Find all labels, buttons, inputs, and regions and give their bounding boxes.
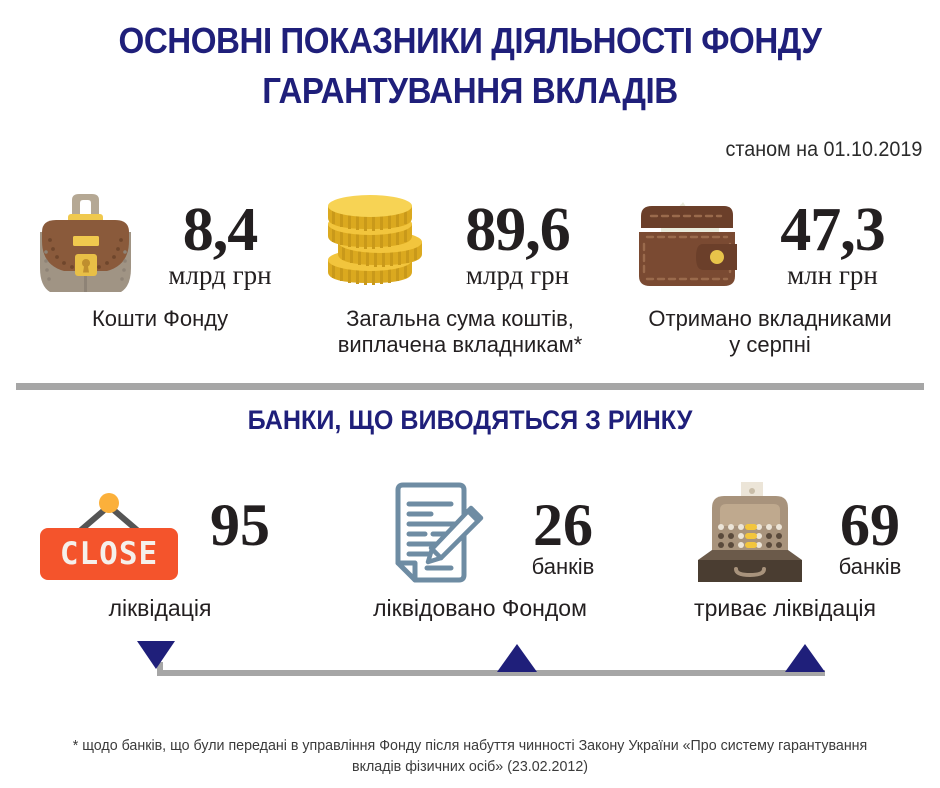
stat-unit: млрд грн (430, 260, 605, 290)
stat-caption-total-paid: Загальна сума коштів, виплачена вкладник… (295, 306, 625, 358)
infographic-page: ОСНОВНІ ПОКАЗНИКИ ДІЯЛЬНОСТІ ФОНДУ ГАРАН… (0, 0, 940, 788)
stat-caption-received-august: Отримано вкладниками у серпні (600, 306, 940, 358)
stat-value: 95 (180, 496, 300, 554)
page-title-line1: ОСНОВНІ ПОКАЗНИКИ ДІЯЛЬНОСТІ ФОНДУ (119, 20, 822, 61)
stat-caption-ongoing: триває ліквідація (625, 595, 940, 621)
stat-value: 69 (805, 496, 935, 554)
as-of-date: станом на 01.10.2019 (725, 138, 922, 162)
stat-value-block-received-august: 47,3 млн грн (745, 200, 920, 290)
stat-value-block-liquidation: 95 (180, 496, 300, 554)
timeline-marker-liquidated (497, 644, 537, 672)
stat-unit: млн грн (745, 260, 920, 290)
stat-caption-line2: виплачена вкладникам* (295, 332, 625, 358)
stat-caption-line1: Кошти Фонду (20, 306, 300, 332)
stat-caption-line1: Отримано вкладниками (600, 306, 940, 332)
stat-value: 8,4 (145, 200, 295, 260)
page-title-line2: ГАРАНТУВАННЯ ВКЛАДІВ (38, 66, 903, 116)
document-pen-icon (385, 480, 490, 593)
stat-unit: млрд грн (145, 260, 295, 290)
stat-caption-line1: Загальна сума коштів, (295, 306, 625, 332)
footnote: * щодо банків, що були передані в управл… (62, 735, 879, 777)
page-title: ОСНОВНІ ПОКАЗНИКИ ДІЯЛЬНОСТІ ФОНДУ ГАРАН… (38, 16, 903, 116)
section-divider (16, 383, 924, 390)
stat-unit: банків (498, 554, 628, 580)
timeline-marker-ongoing (785, 644, 825, 672)
stat-value: 89,6 (430, 200, 605, 260)
cash-register-icon (690, 480, 810, 595)
stat-value-block-total-paid: 89,6 млрд грн (430, 200, 605, 290)
bottom-stats-row: CLOSE 95 ліквідація (0, 480, 940, 640)
stat-caption-liquidated: ліквідовано Фондом (320, 595, 640, 621)
stat-value-block-liquidated: 26 банків (498, 496, 628, 580)
timeline-marker-liquidation (137, 641, 175, 669)
stat-value-block-fund-assets: 8,4 млрд грн (145, 200, 295, 290)
stat-unit: банків (805, 554, 935, 580)
stat-caption-fund-assets: Кошти Фонду (20, 306, 300, 332)
stat-caption-liquidation: ліквідація (10, 595, 310, 621)
stat-caption-line2: у серпні (600, 332, 940, 358)
close-sign-icon: CLOSE (34, 488, 184, 593)
briefcase-icon (28, 192, 143, 305)
top-stats-row: 8,4 млрд грн Кошти Фонду (0, 186, 940, 366)
close-sign-text: CLOSE (60, 536, 158, 572)
section-title: БАНКИ, ЩО ВИВОДЯТЬСЯ З РИНКУ (33, 405, 907, 436)
timeline-baseline (157, 670, 825, 676)
wallet-icon (625, 194, 745, 303)
stat-value-block-ongoing: 69 банків (805, 496, 935, 580)
stat-value: 47,3 (745, 200, 920, 260)
coins-stack-icon (320, 192, 428, 301)
stat-value: 26 (498, 496, 628, 554)
